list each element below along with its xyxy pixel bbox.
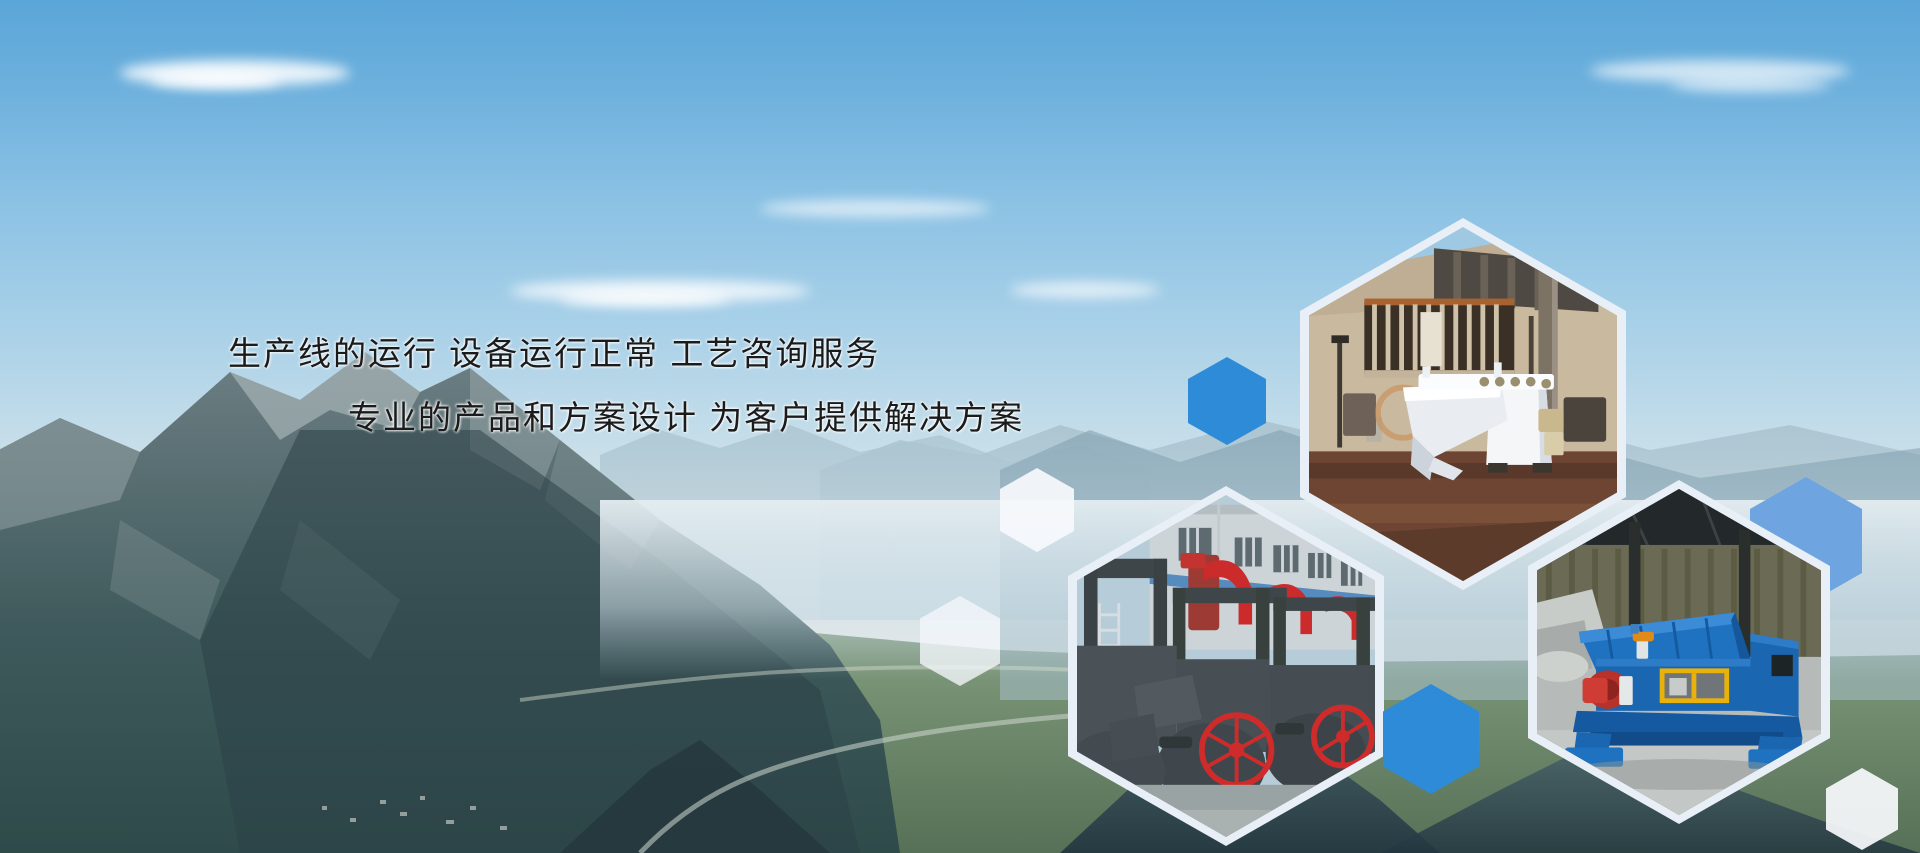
hex-photo-middle-image [1077,495,1375,837]
headline-line-1: 生产线的运行 设备运行正常 工艺咨询服务 [0,322,1120,386]
hex-photo-right-image [1537,489,1821,815]
banner-stage: 生产线的运行 设备运行正常 工艺咨询服务 专业的产品和方案设计 为客户提供解决方… [0,0,1920,853]
hex-photo-top-image [1309,227,1617,581]
headline-block: 生产线的运行 设备运行正常 工艺咨询服务 专业的产品和方案设计 为客户提供解决方… [0,322,1120,451]
headline-line-2: 专业的产品和方案设计 为客户提供解决方案 [0,386,1120,450]
